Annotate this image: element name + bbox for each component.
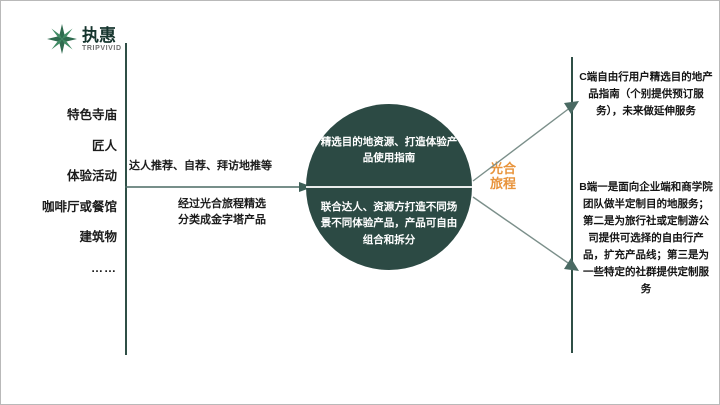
divider-line-left xyxy=(125,43,127,355)
brand-wordmark: 执惠 TRIPVIVID xyxy=(82,27,122,52)
hub-circle: 精选目的地资源、打造体验产品使用指南 联合达人、资源方打造不同场景不同体验产品，… xyxy=(306,104,472,270)
flow-label-below-line1: 经过光合旅程精选 xyxy=(129,197,315,213)
brand-logo: 执惠 TRIPVIVID xyxy=(45,19,135,59)
flow-label-below: 经过光合旅程精选 分类成金字塔产品 xyxy=(129,197,315,229)
flow-arrow-icon xyxy=(125,177,313,197)
hub-bottom-text: 联合达人、资源方打造不同场景不同体验产品，产品可自由组合和拆分 xyxy=(317,199,461,248)
hub-divider xyxy=(306,186,472,188)
branch-arrows-icon xyxy=(467,97,597,277)
outcome-business-text: B端一是面向企业端和商学院团队做半定制目的地服务；第二是为旅行社或定制游公司提供… xyxy=(579,179,713,298)
flow-label-below-line2: 分类成金字塔产品 xyxy=(129,213,315,229)
eight-point-star-icon xyxy=(45,22,79,56)
list-item: 建筑物 xyxy=(1,231,117,244)
brand-name-en: TRIPVIVID xyxy=(82,45,122,52)
list-item: 咖啡厅或餐馆 xyxy=(1,201,117,214)
list-item: 匠人 xyxy=(1,140,117,153)
list-item: 特色寺庙 xyxy=(1,109,117,122)
slide-canvas: 执惠 TRIPVIVID 特色寺庙 匠人 体验活动 咖啡厅或餐馆 建筑物 …… … xyxy=(0,0,720,405)
flow-label-above: 达人推荐、自荐、拜访地推等 xyxy=(129,157,319,173)
list-item: …… xyxy=(1,262,117,274)
source-list: 特色寺庙 匠人 体验活动 咖啡厅或餐馆 建筑物 …… xyxy=(1,109,117,274)
list-item: 体验活动 xyxy=(1,170,117,183)
hub-top-text: 精选目的地资源、打造体验产品使用指南 xyxy=(317,134,461,167)
brand-name-cn: 执惠 xyxy=(82,27,122,44)
outcome-consumer-text: C端自由行用户精选目的地产品指南（个别提供预订服务），未来做延伸服务 xyxy=(579,69,713,120)
